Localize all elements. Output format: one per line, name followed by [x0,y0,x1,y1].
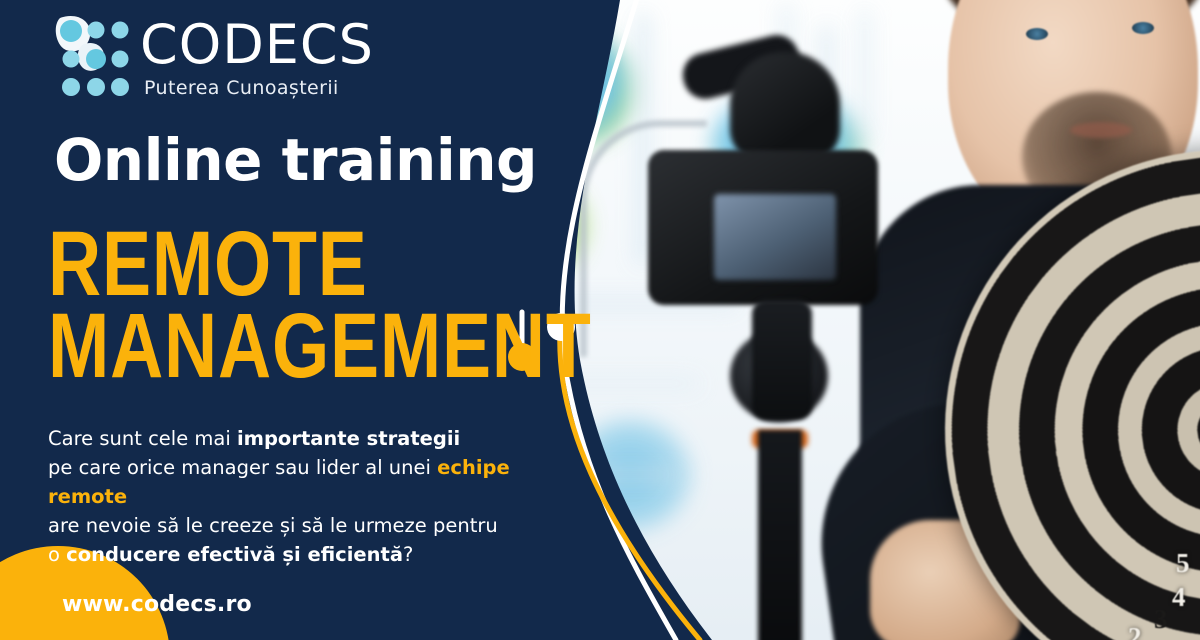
hero-content: CODECS Puterea Cunoașterii Online traini… [0,0,640,640]
person-mouth [1070,122,1132,138]
dartboard-number: 2 [1128,622,1142,640]
hero-kicker: Online training [54,128,537,192]
camera-lens [730,52,840,162]
paragraph-text: o [48,543,66,566]
paragraph-bold: importante strategii [237,427,460,450]
codecs-dots-logo-icon [54,14,132,100]
paragraph-text: pe care orice manager sau lider al unei [48,456,437,479]
tripod-leg [758,430,802,640]
paragraph-text: Care sunt cele mai [48,427,237,450]
dartboard-number: 3 [1154,604,1168,635]
paragraph-bold: conducere efectivă și eficientă [66,543,403,566]
brand-logo-text: CODECS Puterea Cunoașterii [140,14,374,100]
brand-name: CODECS [140,18,374,72]
hero-paragraph: Care sunt cele mai importante strategii … [48,424,568,569]
dartboard-number: 5 [1176,548,1190,579]
brand-tagline: Puterea Cunoașterii [144,76,374,100]
person-eye [1132,22,1154,34]
paragraph-text: ? [403,543,413,566]
hero-title-line-2: MANAGEMENT [48,300,592,392]
tripod-neck [752,300,812,420]
brand-logo[interactable]: CODECS Puterea Cunoașterii [54,14,374,100]
dartboard-number: 4 [1172,582,1186,613]
person-eye [1026,28,1048,40]
whiteboard-bar [860,10,869,140]
codecs-online-training-banner: 5 4 3 2 [0,0,1200,640]
website-url[interactable]: www.codecs.ro [62,592,252,617]
camera-screen [714,194,836,280]
paragraph-text: are nevoie să le creeze și să le urmeze … [48,514,498,537]
